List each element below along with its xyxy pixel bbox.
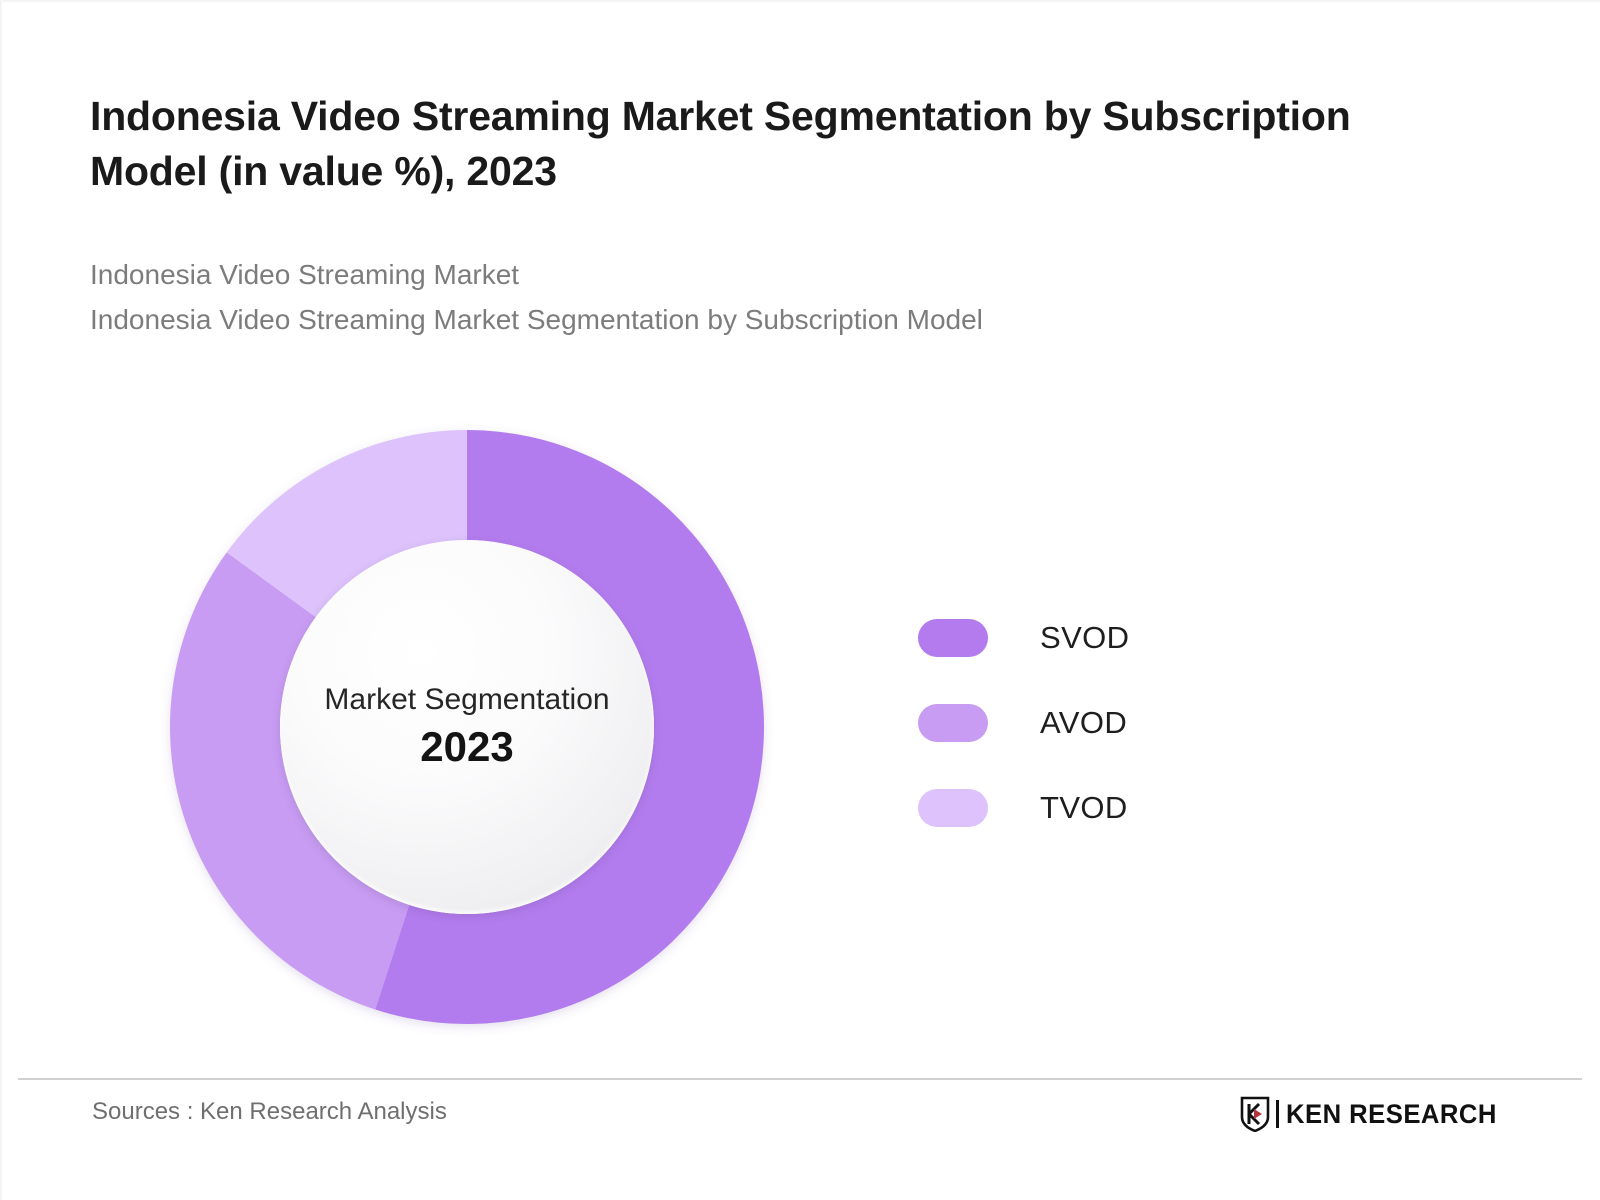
subtitle-line-1: Indonesia Video Streaming Market	[90, 252, 1390, 297]
top-edge-divider	[0, 0, 1600, 2]
donut-center-label: Market Segmentation	[324, 683, 609, 716]
legend-label-svod: SVOD	[1040, 620, 1129, 656]
source-note: Sources : Ken Research Analysis	[92, 1098, 447, 1126]
legend-item-svod[interactable]: SVOD	[918, 595, 1348, 680]
chart-legend: SVOD AVOD TVOD	[918, 595, 1348, 850]
subtitle-line-2: Indonesia Video Streaming Market Segment…	[90, 297, 1390, 342]
legend-swatch-tvod	[918, 789, 988, 827]
brand-separator	[1276, 1100, 1279, 1128]
legend-swatch-avod	[918, 704, 988, 742]
legend-item-avod[interactable]: AVOD	[918, 680, 1348, 765]
subtitle-block: Indonesia Video Streaming Market Indones…	[90, 252, 1390, 343]
brand-name: KEN RESEARCH	[1286, 1099, 1497, 1130]
brand-logo: KEN RESEARCH	[1240, 1094, 1508, 1134]
legend-label-avod: AVOD	[1040, 705, 1127, 741]
donut-center-value: 2023	[420, 724, 513, 770]
donut-chart: Market Segmentation 2023	[130, 400, 830, 1050]
footer-divider	[18, 1078, 1582, 1080]
legend-swatch-svod	[918, 619, 988, 657]
left-edge-divider	[0, 0, 3, 1200]
ken-research-shield-icon	[1240, 1096, 1270, 1132]
legend-item-tvod[interactable]: TVOD	[918, 765, 1348, 850]
donut-center-hole: Market Segmentation 2023	[280, 540, 654, 914]
donut-ring-container: Market Segmentation 2023	[170, 430, 764, 1024]
legend-label-tvod: TVOD	[1040, 790, 1128, 826]
slide-canvas: Indonesia Video Streaming Market Segment…	[0, 0, 1600, 1200]
page-title: Indonesia Video Streaming Market Segment…	[90, 89, 1390, 198]
